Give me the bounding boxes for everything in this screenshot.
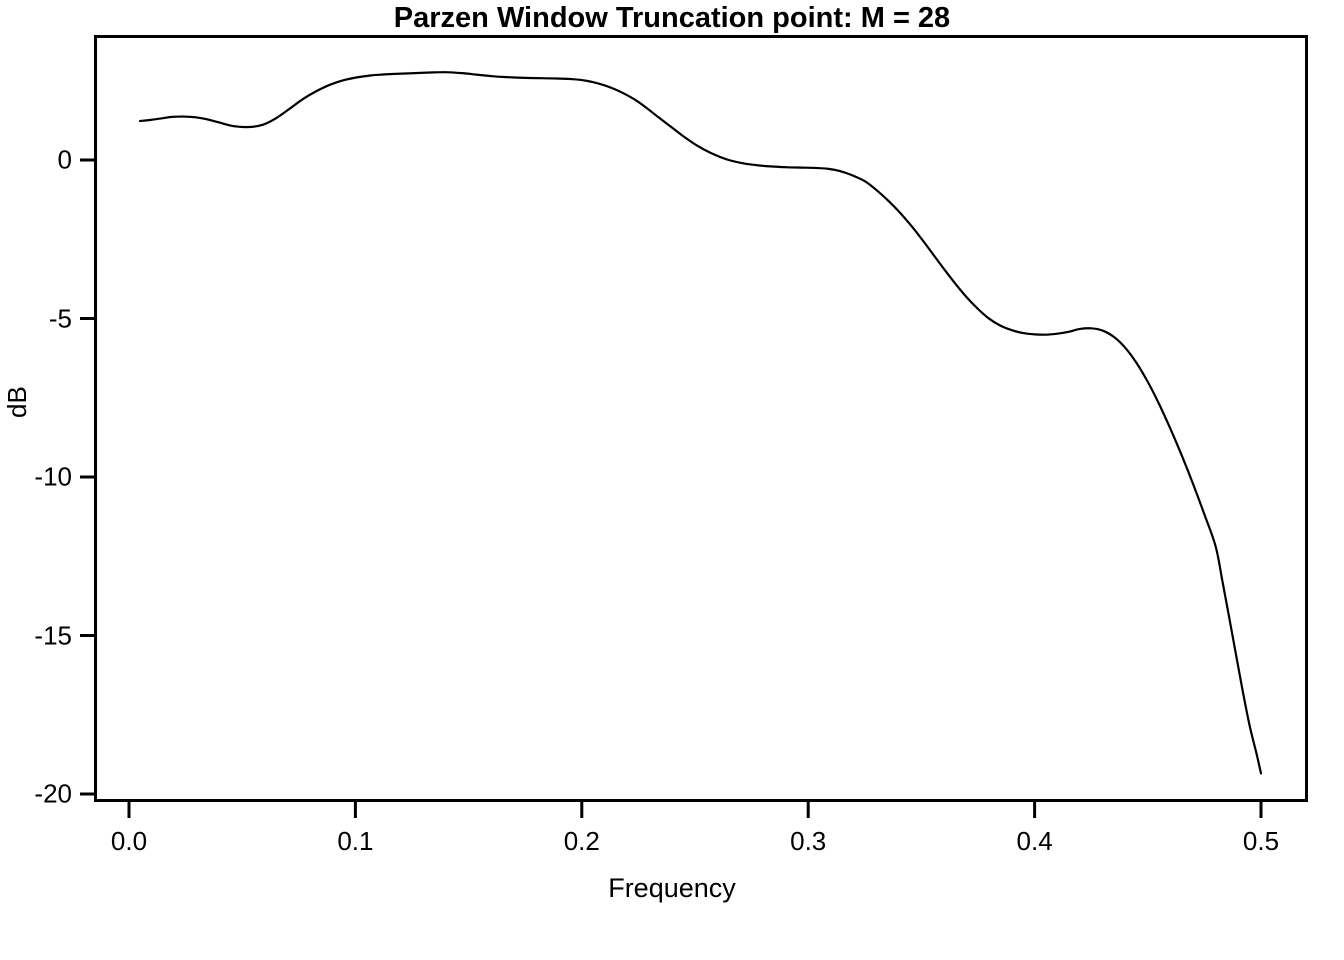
y-tick-label: -20 xyxy=(0,779,72,810)
y-axis-label: dB xyxy=(2,386,33,418)
x-axis-ticks xyxy=(129,801,1261,818)
y-tick-label: -10 xyxy=(0,462,72,493)
x-tick-label: 0.3 xyxy=(790,826,826,857)
x-tick-label: 0.1 xyxy=(337,826,373,857)
y-tick-label: -5 xyxy=(0,303,72,334)
plot-frame xyxy=(96,37,1307,801)
x-tick-label: 0.2 xyxy=(564,826,600,857)
plot-area xyxy=(0,0,1344,960)
x-tick-label: 0.5 xyxy=(1243,826,1279,857)
chart-figure: Parzen Window Truncation point: M = 28 0… xyxy=(0,0,1344,960)
y-tick-label: 0 xyxy=(0,145,72,176)
x-axis-label: Frequency xyxy=(0,873,1344,904)
data-series-line xyxy=(140,72,1261,773)
y-axis-ticks xyxy=(80,160,95,794)
y-tick-label: -15 xyxy=(0,620,72,651)
x-tick-label: 0.0 xyxy=(111,826,147,857)
x-tick-label: 0.4 xyxy=(1017,826,1053,857)
